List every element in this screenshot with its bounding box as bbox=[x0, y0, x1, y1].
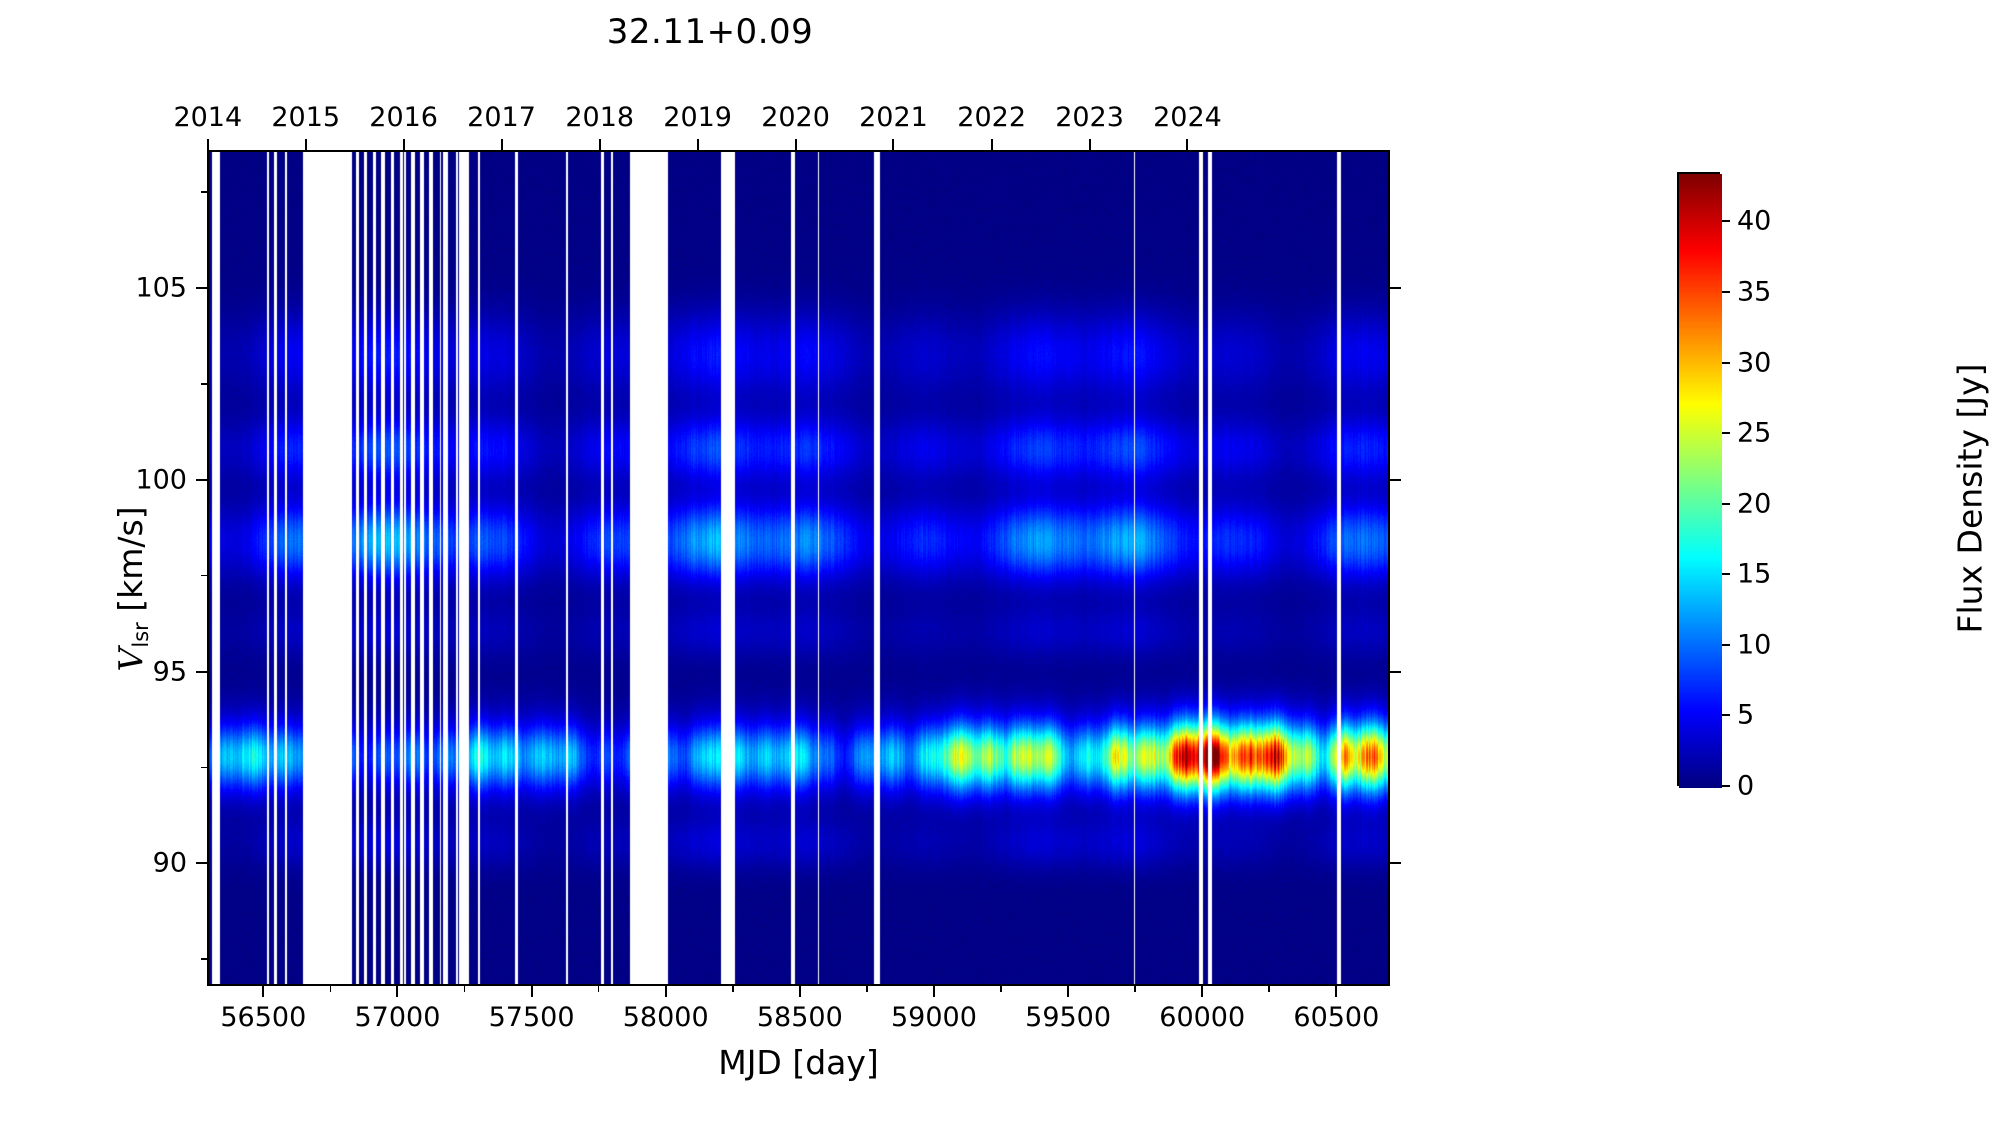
x-tick-minor bbox=[598, 986, 600, 992]
x-tick-major bbox=[531, 986, 533, 997]
year-tick bbox=[1089, 139, 1091, 150]
y-tick-major bbox=[196, 479, 207, 481]
colorbar-tick-label: 20 bbox=[1737, 488, 1771, 519]
x-tick-major bbox=[396, 986, 398, 997]
x-tick-major bbox=[665, 986, 667, 997]
colorbar-tick-label: 15 bbox=[1737, 559, 1771, 590]
y-axis-subscript: lsr bbox=[129, 622, 153, 647]
year-tick bbox=[403, 139, 405, 150]
x-tick-major bbox=[262, 986, 264, 997]
x-tick-minor bbox=[1000, 986, 1002, 992]
y-tick-major-right bbox=[1390, 862, 1401, 864]
y-tick-major-right bbox=[1390, 671, 1401, 673]
x-tick-minor bbox=[732, 986, 734, 992]
year-tick bbox=[795, 139, 797, 150]
colorbar-tick-label: 10 bbox=[1737, 629, 1771, 660]
year-tick bbox=[599, 139, 601, 150]
x-tick-major bbox=[799, 986, 801, 997]
colorbar-tick-label: 5 bbox=[1737, 700, 1754, 731]
y-axis-unit: [km/s] bbox=[111, 506, 150, 622]
colorbar-gradient bbox=[1679, 174, 1722, 788]
year-tick-label: 2019 bbox=[663, 102, 732, 133]
colorbar-tick-label: 0 bbox=[1737, 771, 1754, 802]
x-tick-minor bbox=[330, 986, 332, 992]
x-tick-label: 56500 bbox=[220, 1002, 306, 1033]
figure-canvas: 32.11+0.09 56500570005750058000585005900… bbox=[0, 0, 2000, 1125]
y-tick-minor bbox=[201, 575, 207, 577]
x-tick-label: 59000 bbox=[891, 1002, 977, 1033]
y-axis-title: Vlsr [km/s] bbox=[111, 439, 153, 739]
x-tick-label: 60000 bbox=[1159, 1002, 1245, 1033]
x-tick-major bbox=[1067, 986, 1069, 997]
year-tick-label: 2017 bbox=[467, 102, 536, 133]
colorbar-tick-label: 40 bbox=[1737, 206, 1771, 237]
year-tick bbox=[305, 139, 307, 150]
year-tick bbox=[207, 139, 209, 150]
x-tick-label: 58500 bbox=[757, 1002, 843, 1033]
y-tick-major bbox=[196, 287, 207, 289]
y-tick-label: 105 bbox=[112, 273, 187, 304]
year-tick-label: 2020 bbox=[761, 102, 830, 133]
year-tick bbox=[1186, 139, 1188, 150]
y-tick-major-right bbox=[1390, 479, 1401, 481]
year-tick-label: 2022 bbox=[957, 102, 1026, 133]
x-tick-label: 57500 bbox=[489, 1002, 575, 1033]
y-axis-symbol: V bbox=[111, 648, 150, 672]
year-tick-label: 2023 bbox=[1055, 102, 1124, 133]
x-tick-label: 60500 bbox=[1293, 1002, 1379, 1033]
year-tick bbox=[892, 139, 894, 150]
x-tick-major bbox=[1201, 986, 1203, 997]
year-tick-label: 2018 bbox=[565, 102, 634, 133]
x-axis-title: MJD [day] bbox=[207, 1043, 1390, 1082]
y-tick-major-right bbox=[1390, 287, 1401, 289]
year-tick-label: 2014 bbox=[173, 102, 242, 133]
year-tick-label: 2024 bbox=[1153, 102, 1222, 133]
x-tick-minor bbox=[866, 986, 868, 992]
y-tick-minor bbox=[201, 958, 207, 960]
x-tick-label: 57000 bbox=[355, 1002, 441, 1033]
colorbar-tick-label: 25 bbox=[1737, 418, 1771, 449]
colorbar-title: Flux Density [Jy] bbox=[1951, 189, 1990, 809]
y-tick-minor bbox=[201, 383, 207, 385]
y-tick-minor bbox=[201, 767, 207, 769]
y-tick-label: 90 bbox=[112, 848, 187, 879]
colorbar[interactable] bbox=[1677, 172, 1720, 786]
colorbar-tick-label: 35 bbox=[1737, 276, 1771, 307]
colorbar-tick-label: 30 bbox=[1737, 347, 1771, 378]
year-tick-label: 2021 bbox=[859, 102, 928, 133]
x-tick-major bbox=[933, 986, 935, 997]
x-tick-minor bbox=[1134, 986, 1136, 992]
x-tick-minor bbox=[1268, 986, 1270, 992]
x-tick-label: 58000 bbox=[623, 1002, 709, 1033]
year-tick-label: 2016 bbox=[369, 102, 438, 133]
year-tick bbox=[697, 139, 699, 150]
year-tick bbox=[991, 139, 993, 150]
y-tick-major bbox=[196, 671, 207, 673]
x-tick-major bbox=[1335, 986, 1337, 997]
year-tick-label: 2015 bbox=[271, 102, 340, 133]
x-tick-label: 59500 bbox=[1025, 1002, 1111, 1033]
x-tick-minor bbox=[464, 986, 466, 992]
y-tick-minor bbox=[201, 191, 207, 193]
y-tick-major bbox=[196, 862, 207, 864]
year-tick bbox=[501, 139, 503, 150]
